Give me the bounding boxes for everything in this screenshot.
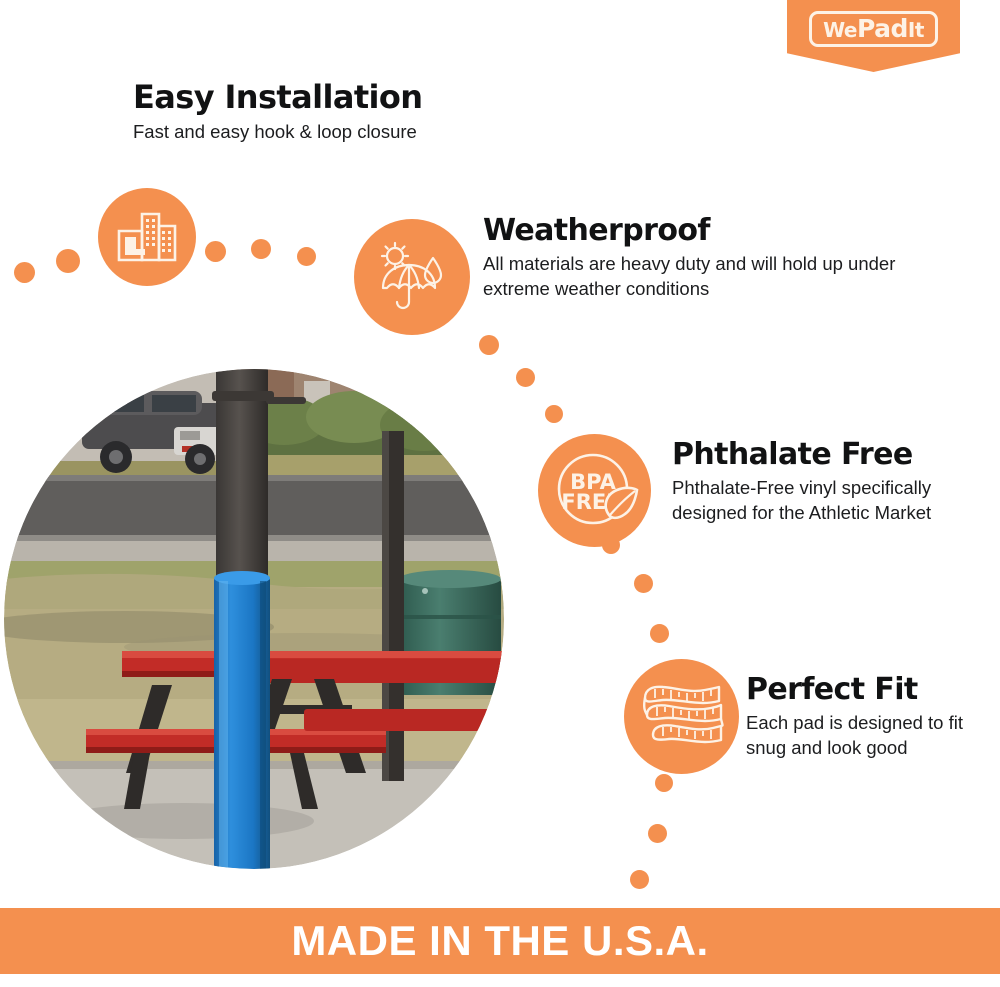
bpa-free-leaf-icon: BPA FREE — [538, 434, 651, 547]
feature-body-phthalate-free: Phthalate-Free vinyl specifically design… — [672, 476, 972, 525]
path-dot — [205, 241, 226, 262]
path-dot — [655, 774, 673, 792]
path-dot — [630, 870, 649, 889]
path-dot — [650, 624, 669, 643]
path-dot — [545, 405, 563, 423]
feature-phthalate-free: Phthalate Free Phthalate-Free vinyl spec… — [672, 437, 972, 525]
building-icon — [98, 188, 196, 286]
feature-body-weatherproof: All materials are heavy duty and will ho… — [483, 252, 913, 301]
feature-title-perfect-fit: Perfect Fit — [746, 672, 986, 707]
brand-logo-plate: WePadIt — [809, 11, 938, 47]
made-in-usa-text: MADE IN THE U.S.A. — [291, 917, 708, 965]
feature-weatherproof: Weatherproof All materials are heavy dut… — [483, 213, 913, 301]
path-dot — [251, 239, 271, 259]
path-dot — [14, 262, 35, 283]
umbrella-sun-raindrop-icon — [354, 219, 470, 335]
feature-body-easy-installation: Fast and easy hook & loop closure — [133, 120, 563, 145]
brand-logo-pad: Pad — [857, 14, 908, 43]
feature-title-weatherproof: Weatherproof — [483, 213, 913, 248]
feature-perfect-fit: Perfect Fit Each pad is designed to fit … — [746, 672, 986, 760]
infographic-page: WePadIt Easy Installation Fast and easy … — [0, 0, 1000, 987]
path-dot — [56, 249, 80, 273]
path-dot — [479, 335, 499, 355]
feature-title-phthalate-free: Phthalate Free — [672, 437, 972, 472]
feature-easy-installation: Easy Installation Fast and easy hook & l… — [133, 78, 563, 145]
path-dot — [602, 536, 620, 554]
measuring-tape-icon — [624, 659, 739, 774]
brand-logo-we: We — [823, 18, 857, 42]
product-photo — [4, 369, 504, 869]
brand-logo-it: It — [908, 18, 924, 42]
path-dot — [516, 368, 535, 387]
path-dot — [634, 574, 653, 593]
made-in-usa-banner: MADE IN THE U.S.A. — [0, 908, 1000, 974]
brand-logo-banner[interactable]: WePadIt — [787, 0, 960, 72]
path-dot — [297, 247, 316, 266]
feature-body-perfect-fit: Each pad is designed to fit snug and loo… — [746, 711, 986, 760]
path-dot — [648, 824, 667, 843]
feature-title-easy-installation: Easy Installation — [133, 78, 563, 116]
